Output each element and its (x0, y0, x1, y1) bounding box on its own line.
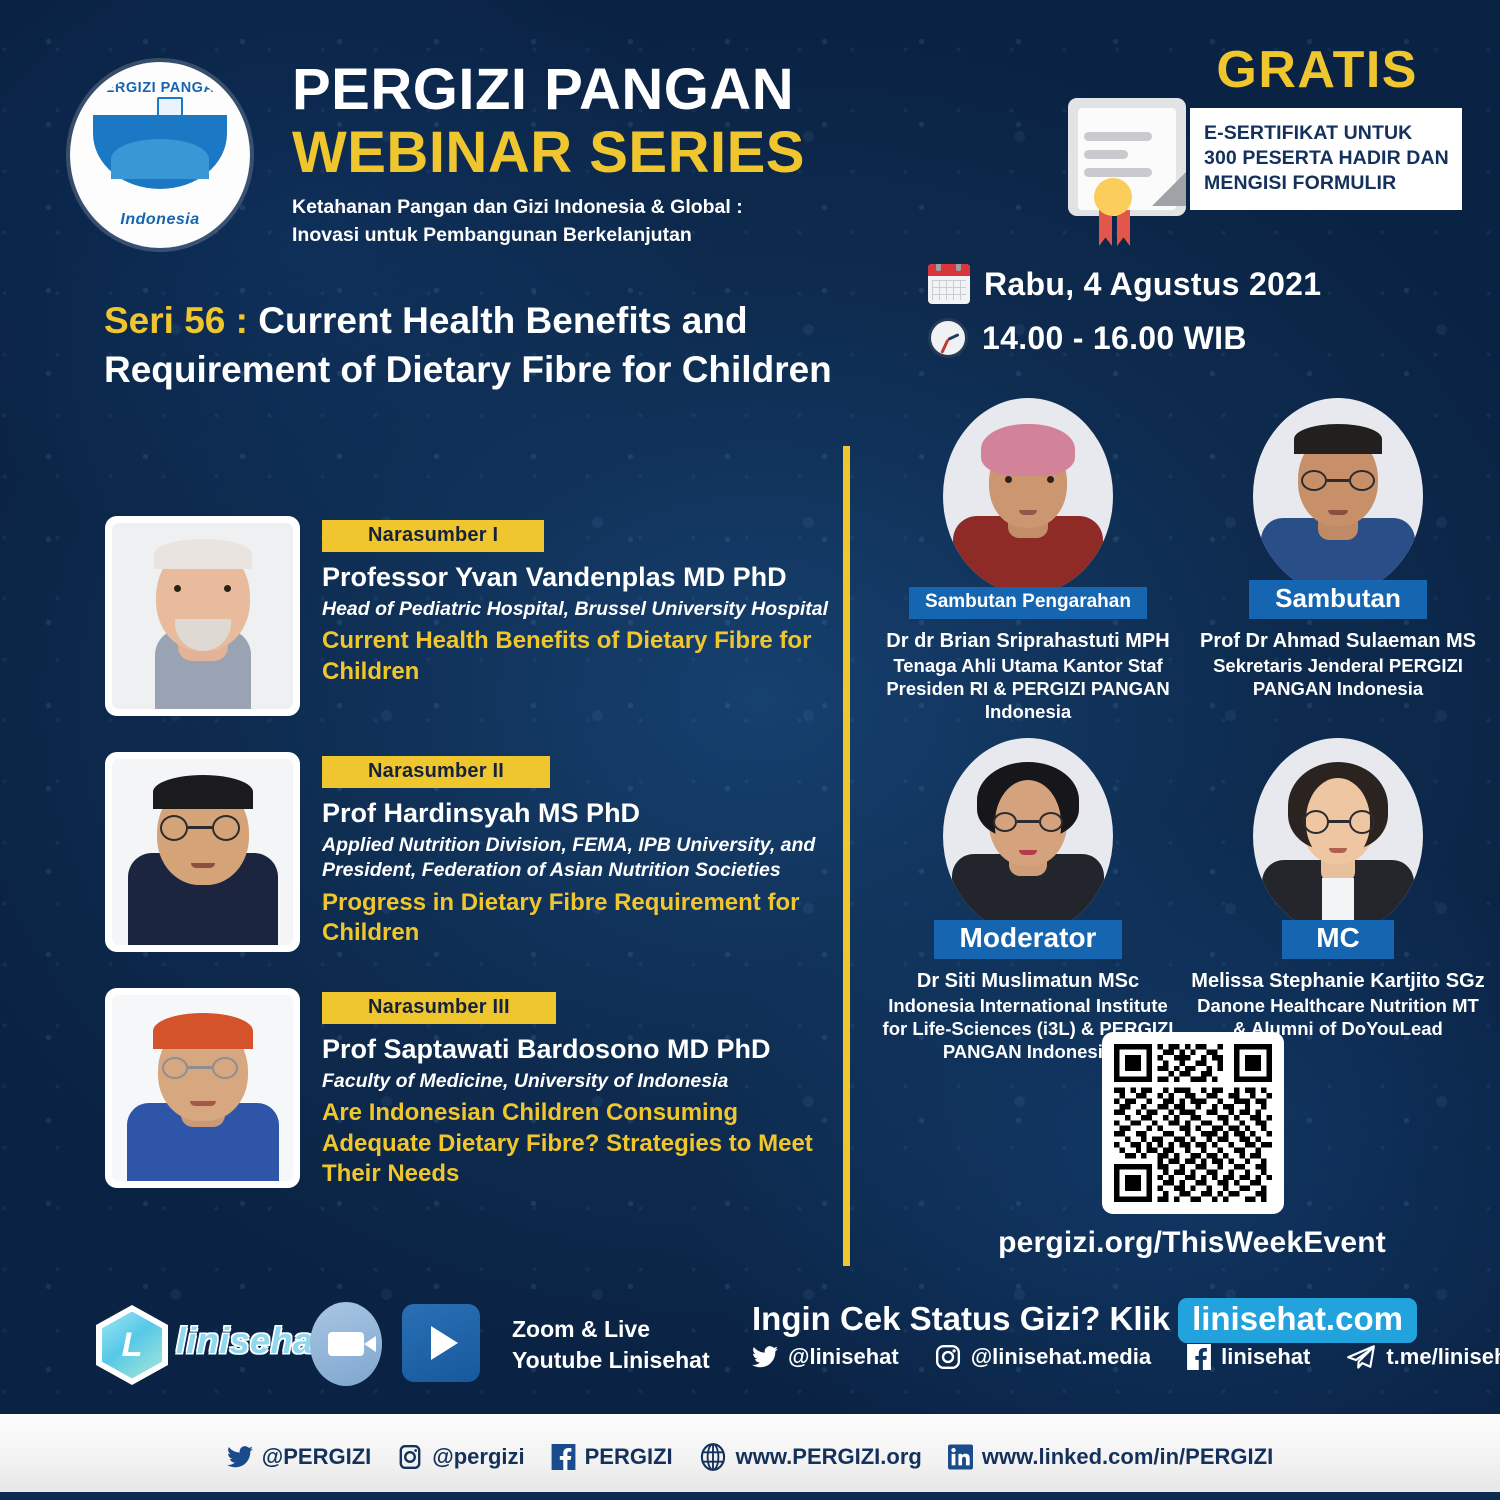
logo-arc-bottom-text: Indonesia (79, 211, 241, 229)
person-avatar-2 (1253, 398, 1423, 594)
pergizi-pangan-logo: PERGIZI PANGAN Indonesia (70, 62, 250, 248)
person-name-3: Dr Siti Muslimatun MSc (878, 969, 1178, 993)
telegram-icon[interactable] (1346, 1344, 1376, 1370)
cta-text: Ingin Cek Status Gizi? Klik (752, 1300, 1170, 1337)
header-title-block: PERGIZI PANGAN WEBINAR SERIES Ketahanan … (292, 60, 805, 249)
footer-facebook-handle: PERGIZI (585, 1444, 673, 1470)
person-role-4: MC (1282, 920, 1394, 959)
speaker-affiliation-2: Applied Nutrition Division, FEMA, IPB Un… (322, 833, 842, 884)
speaker-card-1: Narasumber I Professor Yvan Vandenplas M… (105, 516, 842, 716)
gratis-label: GRATIS (1216, 40, 1418, 100)
person-card-sambutan-pengarahan: Sambutan Pengarahan Dr dr Brian Sripraha… (878, 398, 1178, 723)
speaker-name-3: Prof Saptawati Bardosono MD PhD (322, 1033, 842, 1066)
certificate-info-box: E-SERTIFIKAT UNTUK 300 PESERTA HADIR DAN… (1190, 108, 1462, 210)
footer-instagram-handle: @pergizi (432, 1444, 524, 1470)
speaker-name-2: Prof Hardinsyah MS PhD (322, 797, 842, 830)
cert-line-1: E-SERTIFIKAT UNTUK (1204, 121, 1450, 146)
zoom-camera-icon (310, 1302, 382, 1386)
speaker-photo-3 (105, 988, 300, 1188)
person-role-2: Sambutan (1249, 580, 1427, 619)
broadcast-platform-text: Zoom & Live Youtube Linisehat (512, 1314, 710, 1375)
brand-subtitle-line1: Ketahanan Pangan dan Gizi Indonesia & Gl… (292, 194, 805, 222)
twitter-icon[interactable] (752, 1346, 778, 1368)
youtube-play-icon (402, 1304, 480, 1382)
footer-item-facebook[interactable]: PERGIZI (551, 1444, 673, 1470)
speaker-card-2: Narasumber II Prof Hardinsyah MS PhD App… (105, 752, 842, 952)
twitter-icon (227, 1446, 253, 1468)
person-avatar-4 (1253, 738, 1423, 934)
linisehat-telegram-handle[interactable]: t.me/linisehat (1386, 1344, 1500, 1370)
footer-website-url: www.PERGIZI.org (736, 1444, 922, 1470)
person-role-1: Sambutan Pengarahan (909, 587, 1147, 619)
broadcast-line-2: Youtube Linisehat (512, 1345, 710, 1376)
cert-line-2: 300 PESERTA HADIR DAN (1204, 146, 1450, 171)
footer-item-twitter[interactable]: @PERGIZI (227, 1444, 371, 1470)
qr-code-graphic (1114, 1044, 1272, 1202)
footer-bar: @PERGIZI @pergizi PERGIZI www.PERGIZI.or… (0, 1414, 1500, 1500)
speaker-tag-3: Narasumber III (322, 992, 556, 1024)
event-date-text: Rabu, 4 Agustus 2021 (984, 266, 1321, 303)
cta-row: Ingin Cek Status Gizi? Kliklinisehat.com (752, 1298, 1417, 1343)
globe-icon (699, 1443, 727, 1471)
person-card-moderator: Moderator Dr Siti Muslimatun MSc Indones… (878, 738, 1178, 1063)
person-name-2: Prof Dr Ahmad Sulaeman MS (1188, 629, 1488, 653)
speaker-topic-1: Current Health Benefits of Dietary Fibre… (322, 626, 842, 687)
person-desc-2: Sekretaris Jenderal PERGIZI PANGAN Indon… (1188, 655, 1488, 700)
person-desc-1: Tenaga Ahli Utama Kantor Staf Presiden R… (878, 655, 1178, 723)
vertical-divider (843, 446, 850, 1266)
qr-url-text[interactable]: pergizi.org/ThisWeekEvent (952, 1226, 1432, 1260)
speaker-affiliation-1: Head of Pediatric Hospital, Brussel Univ… (322, 597, 842, 622)
linisehat-socials: @linisehat @linisehat.media linisehat t.… (752, 1344, 1500, 1370)
food-bowl-icon (93, 115, 227, 189)
certificate-icon (1068, 98, 1196, 230)
linisehat-facebook-handle[interactable]: linisehat (1221, 1344, 1310, 1370)
speaker-photo-2 (105, 752, 300, 952)
footer-linkedin-url: www.linked.com/in/PERGIZI (982, 1444, 1273, 1470)
broadcast-line-1: Zoom & Live (512, 1314, 710, 1345)
footer-item-website[interactable]: www.PERGIZI.org (699, 1443, 922, 1471)
brand-title-line1: PERGIZI PANGAN (292, 60, 805, 119)
footer-bottom-edge (0, 1492, 1500, 1500)
linisehat-instagram-handle[interactable]: @linisehat.media (971, 1344, 1151, 1370)
person-card-mc: MC Melissa Stephanie Kartjito SGz Danone… (1188, 738, 1488, 1041)
person-name-4: Melissa Stephanie Kartjito SGz (1188, 969, 1488, 993)
facebook-icon[interactable] (1187, 1344, 1211, 1370)
footer-item-linkedin[interactable]: www.linked.com/in/PERGIZI (948, 1444, 1273, 1470)
person-name-1: Dr dr Brian Sriprahastuti MPH (878, 629, 1178, 653)
cert-line-3: MENGISI FORMULIR (1204, 171, 1450, 196)
event-time-row: 14.00 - 16.00 WIB (928, 318, 1247, 358)
event-date-row: Rabu, 4 Agustus 2021 (928, 264, 1321, 304)
instagram-icon[interactable] (935, 1344, 961, 1370)
brand-title-line2: WEBINAR SERIES (292, 123, 805, 184)
speaker-photo-1 (105, 516, 300, 716)
linisehat-wordmark: linisehat (176, 1320, 326, 1362)
speaker-card-3: Narasumber III Prof Saptawati Bardosono … (105, 988, 842, 1190)
linisehat-twitter-handle[interactable]: @linisehat (788, 1344, 899, 1370)
speaker-tag-1: Narasumber I (322, 520, 544, 552)
calendar-icon (928, 264, 970, 304)
speaker-affiliation-3: Faculty of Medicine, University of Indon… (322, 1069, 842, 1094)
instagram-icon (397, 1444, 423, 1470)
event-time-text: 14.00 - 16.00 WIB (982, 320, 1247, 357)
linisehat-logo-icon: L (96, 1305, 168, 1385)
person-role-3: Moderator (934, 920, 1123, 959)
speaker-topic-3: Are Indonesian Children Consuming Adequa… (322, 1098, 842, 1189)
brand-subtitle-line2: Inovasi untuk Pembangunan Berkelanjutan (292, 222, 805, 250)
footer-twitter-handle: @PERGIZI (262, 1444, 371, 1470)
person-avatar-3 (943, 738, 1113, 934)
linkedin-icon (948, 1444, 973, 1470)
series-number: Seri 56 : (104, 300, 248, 341)
cta-pill-linisehat[interactable]: linisehat.com (1178, 1298, 1417, 1343)
facebook-icon (551, 1444, 576, 1470)
webinar-poster: PERGIZI PANGAN Indonesia PERGIZI PANGAN … (0, 0, 1500, 1500)
qr-code[interactable] (1102, 1032, 1284, 1214)
speaker-tag-2: Narasumber II (322, 756, 550, 788)
person-avatar-1 (943, 398, 1113, 594)
footer-item-instagram[interactable]: @pergizi (397, 1444, 524, 1470)
speaker-name-1: Professor Yvan Vandenplas MD PhD (322, 561, 842, 594)
speaker-topic-2: Progress in Dietary Fibre Requirement fo… (322, 888, 842, 949)
logo-arc-top-text: PERGIZI PANGAN (79, 80, 241, 96)
clock-icon (928, 318, 968, 358)
series-title: Seri 56 : Current Health Benefits and Re… (104, 296, 864, 394)
person-card-sambutan: Sambutan Prof Dr Ahmad Sulaeman MS Sekre… (1188, 398, 1488, 701)
